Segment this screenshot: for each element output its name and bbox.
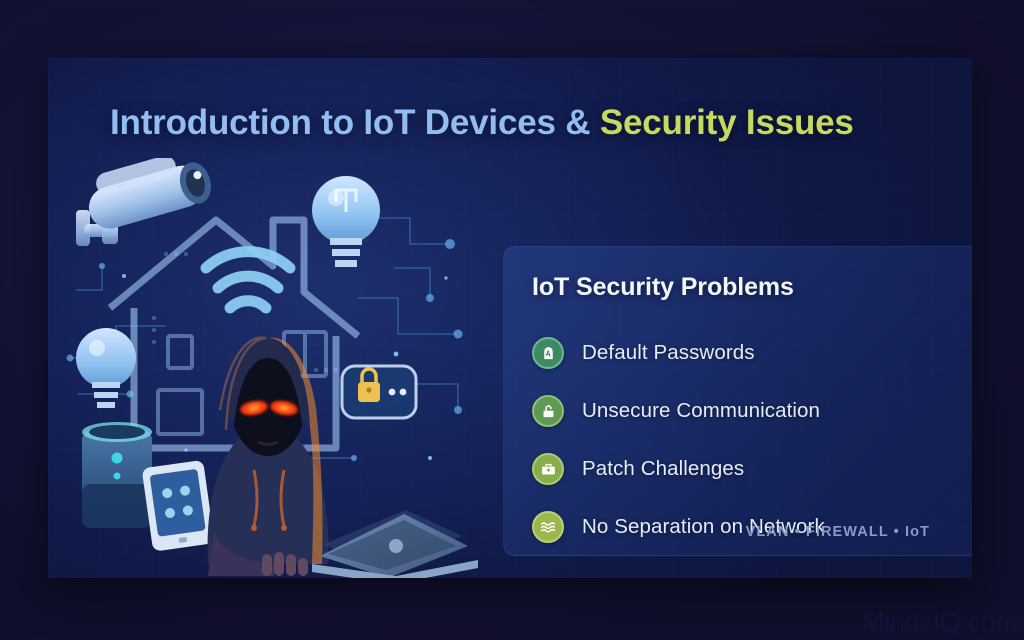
panel-heading: IoT Security Problems	[532, 273, 972, 302]
page-title-accent: Security Issues	[600, 103, 854, 142]
list-item[interactable]: Unsecure Communication	[532, 382, 972, 440]
unlocked-padlock-icon	[532, 395, 564, 427]
laptop	[312, 510, 478, 578]
footer-tags: VLAN • FIREWALL • IoT	[746, 524, 930, 540]
list-item-label: Patch Challenges	[582, 457, 744, 481]
slide-canvas: Introduction to IoT Devices & Security I…	[0, 0, 1024, 640]
password-lock-badge	[342, 366, 416, 418]
watermark: MindzIQ.com	[862, 607, 1018, 638]
network-waves-icon	[532, 511, 564, 543]
smart-speaker	[82, 422, 152, 528]
iot-hacker-illustration	[58, 158, 478, 578]
slide-card: Introduction to IoT Devices & Security I…	[48, 58, 972, 578]
hooded-hacker	[208, 338, 329, 576]
list-item-label: Unsecure Communication	[582, 399, 820, 423]
smart-bulb-top	[312, 176, 380, 267]
smart-bulb-left	[76, 328, 136, 408]
page-title-main: Introduction to IoT Devices &	[110, 103, 600, 142]
list-item[interactable]: Default Passwords	[532, 324, 972, 382]
toolbox-icon	[532, 453, 564, 485]
page-title: Introduction to IoT Devices & Security I…	[110, 103, 854, 143]
tablet-device	[142, 460, 215, 552]
iot-security-problems-panel: IoT Security Problems Default Passwords …	[503, 246, 972, 556]
security-camera	[76, 158, 216, 246]
list-item[interactable]: Patch Challenges	[532, 440, 972, 498]
list-item-label: Default Passwords	[582, 341, 755, 365]
lock-letter-a-icon	[532, 337, 564, 369]
wifi-signal	[206, 252, 290, 308]
